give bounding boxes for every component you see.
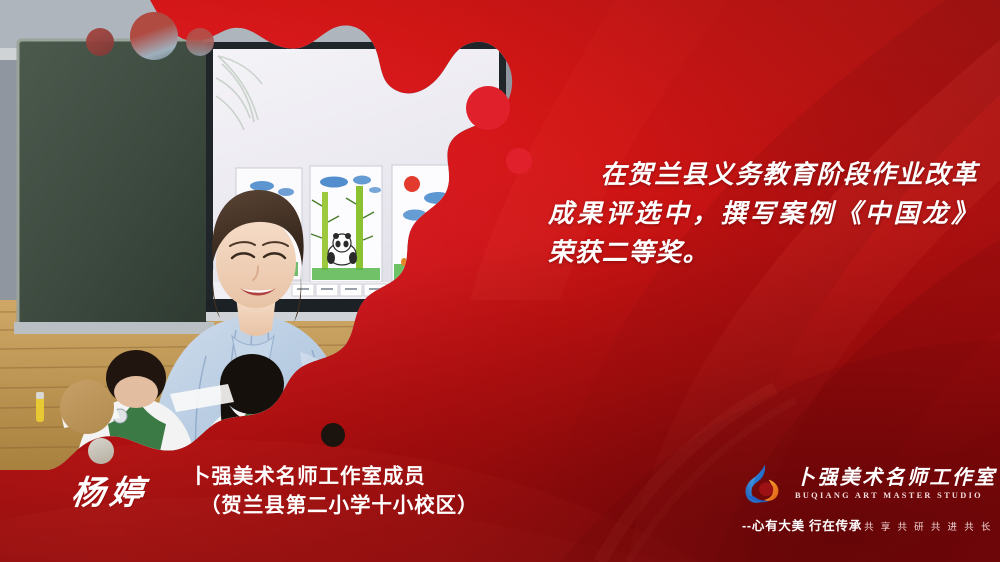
logo-text-block: 卜强美术名师工作室 BUQIANG ART MASTER STUDIO xyxy=(795,468,997,501)
person-school: （贺兰县第二小学十小校区） xyxy=(190,491,510,520)
blob-hole-circle-2 xyxy=(506,148,532,174)
poster-canvas: 在贺兰县义务教育阶段作业改革成果评选中，撰写案例《中国龙》荣获二等奖。 杨婷 卜… xyxy=(0,0,1000,562)
blob-hole-circle-3 xyxy=(321,423,345,447)
photo-fragment-circle-1 xyxy=(86,28,114,56)
logo-name-en: BUQIANG ART MASTER STUDIO xyxy=(795,492,997,500)
logo-tagline-strong: --心有大美 行在传承 xyxy=(742,519,862,533)
buqiang-brush-swirl-icon xyxy=(742,462,786,506)
photo-fragment-circle-2 xyxy=(130,12,178,60)
photo-fragment-circle-4 xyxy=(60,380,114,434)
photo-fragment-circle-5 xyxy=(88,438,114,464)
logo-tagline-small: 共 享 共 研 共 进 共 长 xyxy=(864,522,993,533)
logo-tagline: --心有大美 行在传承共 享 共 研 共 进 共 长 xyxy=(742,515,988,535)
person-role-lines: 卜强美术名师工作室成员 （贺兰县第二小学十小校区） xyxy=(190,462,510,520)
headline-text: 在贺兰县义务教育阶段作业改革成果评选中，撰写案例《中国龙》荣获二等奖。 xyxy=(548,156,978,272)
photo-fragment-circle-3 xyxy=(186,28,214,56)
logo-row: 卜强美术名师工作室 BUQIANG ART MASTER STUDIO xyxy=(742,462,988,506)
blob-hole-circle-1 xyxy=(466,86,510,130)
logo-name-cn: 卜强美术名师工作室 xyxy=(795,468,997,490)
person-role: 卜强美术名师工作室成员 xyxy=(190,462,510,491)
person-name: 杨婷 xyxy=(69,466,151,514)
headline-body: 在贺兰县义务教育阶段作业改革成果评选中，撰写案例《中国龙》荣获二等奖。 xyxy=(548,160,978,267)
studio-logo-lockup: 卜强美术名师工作室 BUQIANG ART MASTER STUDIO --心有… xyxy=(742,462,988,535)
